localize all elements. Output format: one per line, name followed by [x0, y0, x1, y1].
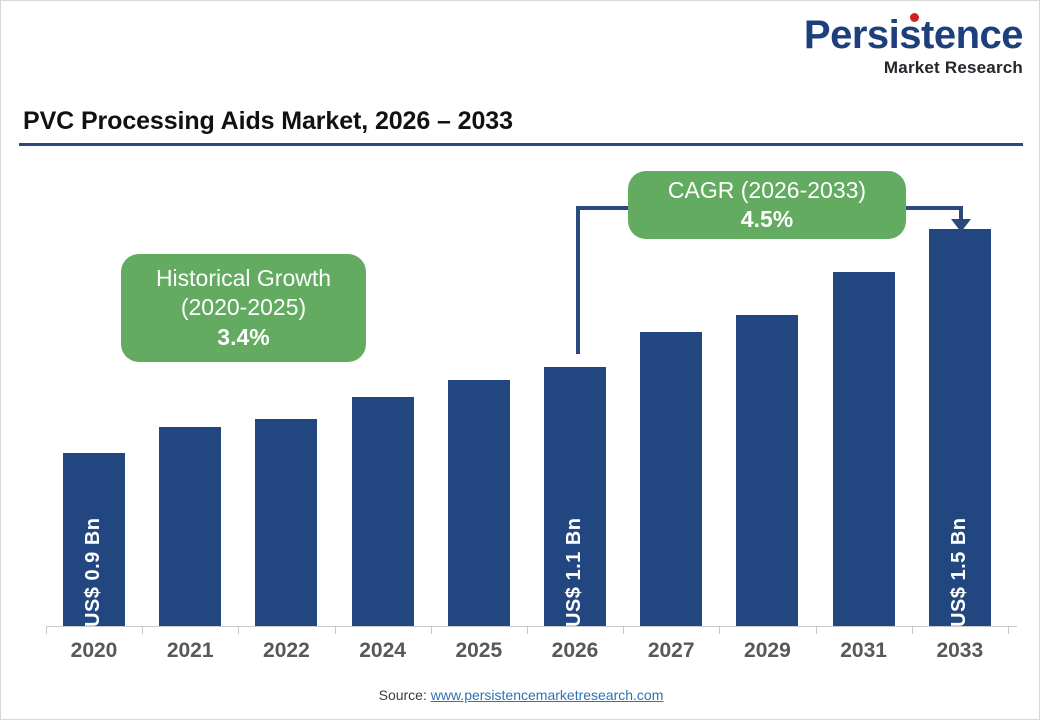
x-axis-label-2021: 2021 [145, 639, 235, 663]
x-axis-label-2020: 2020 [49, 639, 139, 663]
cagr-value: 4.5% [741, 205, 793, 234]
x-axis-tick [1008, 626, 1009, 634]
source-link[interactable]: www.persistencemarketresearch.com [431, 687, 664, 703]
x-axis-tick [142, 626, 143, 634]
x-axis-tick [719, 626, 720, 634]
x-axis-tick [46, 626, 47, 634]
x-axis-label-2025: 2025 [434, 639, 524, 663]
bar-2027[interactable] [640, 332, 702, 626]
cagr-line1: CAGR (2026-2033) [668, 176, 866, 205]
bar-2022[interactable] [255, 419, 317, 626]
bar-2024[interactable] [352, 397, 414, 626]
x-axis-tick [431, 626, 432, 634]
bar-2021[interactable] [159, 427, 221, 626]
x-axis-tick [816, 626, 817, 634]
historical-growth-callout: Historical Growth (2020-2025) 3.4% [121, 254, 366, 362]
bar-2031[interactable] [833, 272, 895, 626]
x-axis-tick [527, 626, 528, 634]
x-axis-tick [912, 626, 913, 634]
bar-value-label-2020: US$ 0.9 Bn [82, 518, 105, 627]
source-note: Source: www.persistencemarketresearch.co… [1, 687, 1040, 703]
connector-arrowhead-icon [951, 219, 971, 232]
historical-growth-value: 3.4% [217, 323, 269, 352]
x-axis-label-2033: 2033 [915, 639, 1005, 663]
bar-2029[interactable] [736, 315, 798, 626]
x-axis-tick [238, 626, 239, 634]
cagr-callout: CAGR (2026-2033) 4.5% [628, 171, 906, 239]
source-prefix: Source: [379, 687, 431, 703]
x-axis-label-2031: 2031 [819, 639, 909, 663]
bar-value-label-2033: US$ 1.5 Bn [948, 518, 971, 627]
x-axis-tick [335, 626, 336, 634]
connector-vertical-left [576, 206, 580, 354]
bar-value-label-2026: US$ 1.1 Bn [563, 518, 586, 627]
historical-growth-line2: (2020-2025) [181, 293, 306, 322]
x-axis-tick [623, 626, 624, 634]
x-axis-label-2027: 2027 [626, 639, 716, 663]
x-axis-line [47, 626, 1017, 627]
x-axis-label-2022: 2022 [241, 639, 331, 663]
x-axis-label-2029: 2029 [722, 639, 812, 663]
chart-page: Persistence Market Research PVC Processi… [0, 0, 1040, 720]
historical-growth-line1: Historical Growth [156, 264, 331, 293]
x-axis-label-2024: 2024 [338, 639, 428, 663]
x-axis-label-2026: 2026 [530, 639, 620, 663]
bar-2025[interactable] [448, 380, 510, 626]
